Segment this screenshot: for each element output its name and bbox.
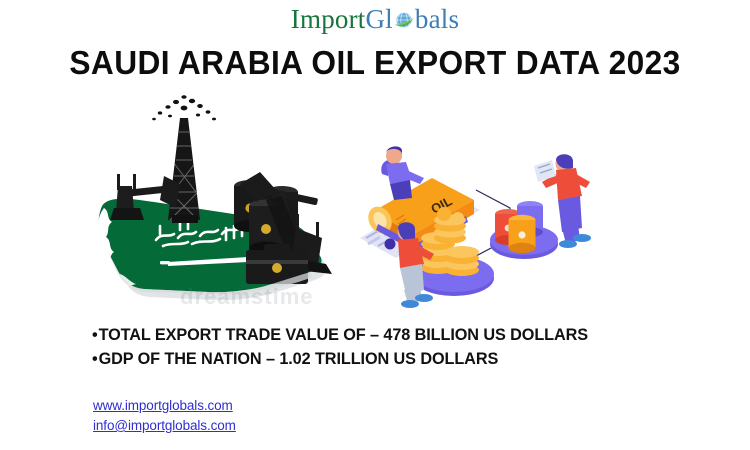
brand-logo[interactable]: ImportGl bals xyxy=(0,6,750,33)
logo-text-bals: bals xyxy=(415,4,459,34)
oil-barrels-platform xyxy=(490,201,558,259)
email-link[interactable]: info@importglobals.com xyxy=(93,416,236,436)
list-item: •TOTAL EXPORT TRADE VALUE OF – 478 BILLI… xyxy=(92,323,683,347)
barrel-orange xyxy=(509,215,536,253)
logo-text-gl: Gl xyxy=(365,4,392,34)
contact-links: www.importglobals.com info@importglobals… xyxy=(93,396,236,436)
list-item-text: GDP OF THE NATION – 1.02 TRILLION US DOL… xyxy=(99,350,499,368)
logo-text-import: Import xyxy=(291,4,366,34)
key-stats-list: •TOTAL EXPORT TRADE VALUE OF – 478 BILLI… xyxy=(92,323,692,371)
globe-icon xyxy=(393,9,415,31)
website-link[interactable]: www.importglobals.com xyxy=(93,396,236,416)
saudi-arabia-map-illustration: dreamstime xyxy=(60,88,360,313)
oil-trade-isometric-illustration: OIL xyxy=(358,128,608,313)
bullet-marker: • xyxy=(92,326,98,344)
oil-spray xyxy=(152,95,216,120)
bullet-marker: • xyxy=(92,350,98,368)
oil-derrick xyxy=(168,118,200,223)
list-item: •GDP OF THE NATION – 1.02 TRILLION US DO… xyxy=(92,347,683,371)
page-title: SAUDI ARABIA OIL EXPORT DATA 2023 xyxy=(15,44,735,82)
list-item-text: TOTAL EXPORT TRADE VALUE OF – 478 BILLIO… xyxy=(99,326,588,344)
infographic-canvas: ImportGl bals SAUDI ARABIA OIL EXPORT DA… xyxy=(0,0,750,450)
